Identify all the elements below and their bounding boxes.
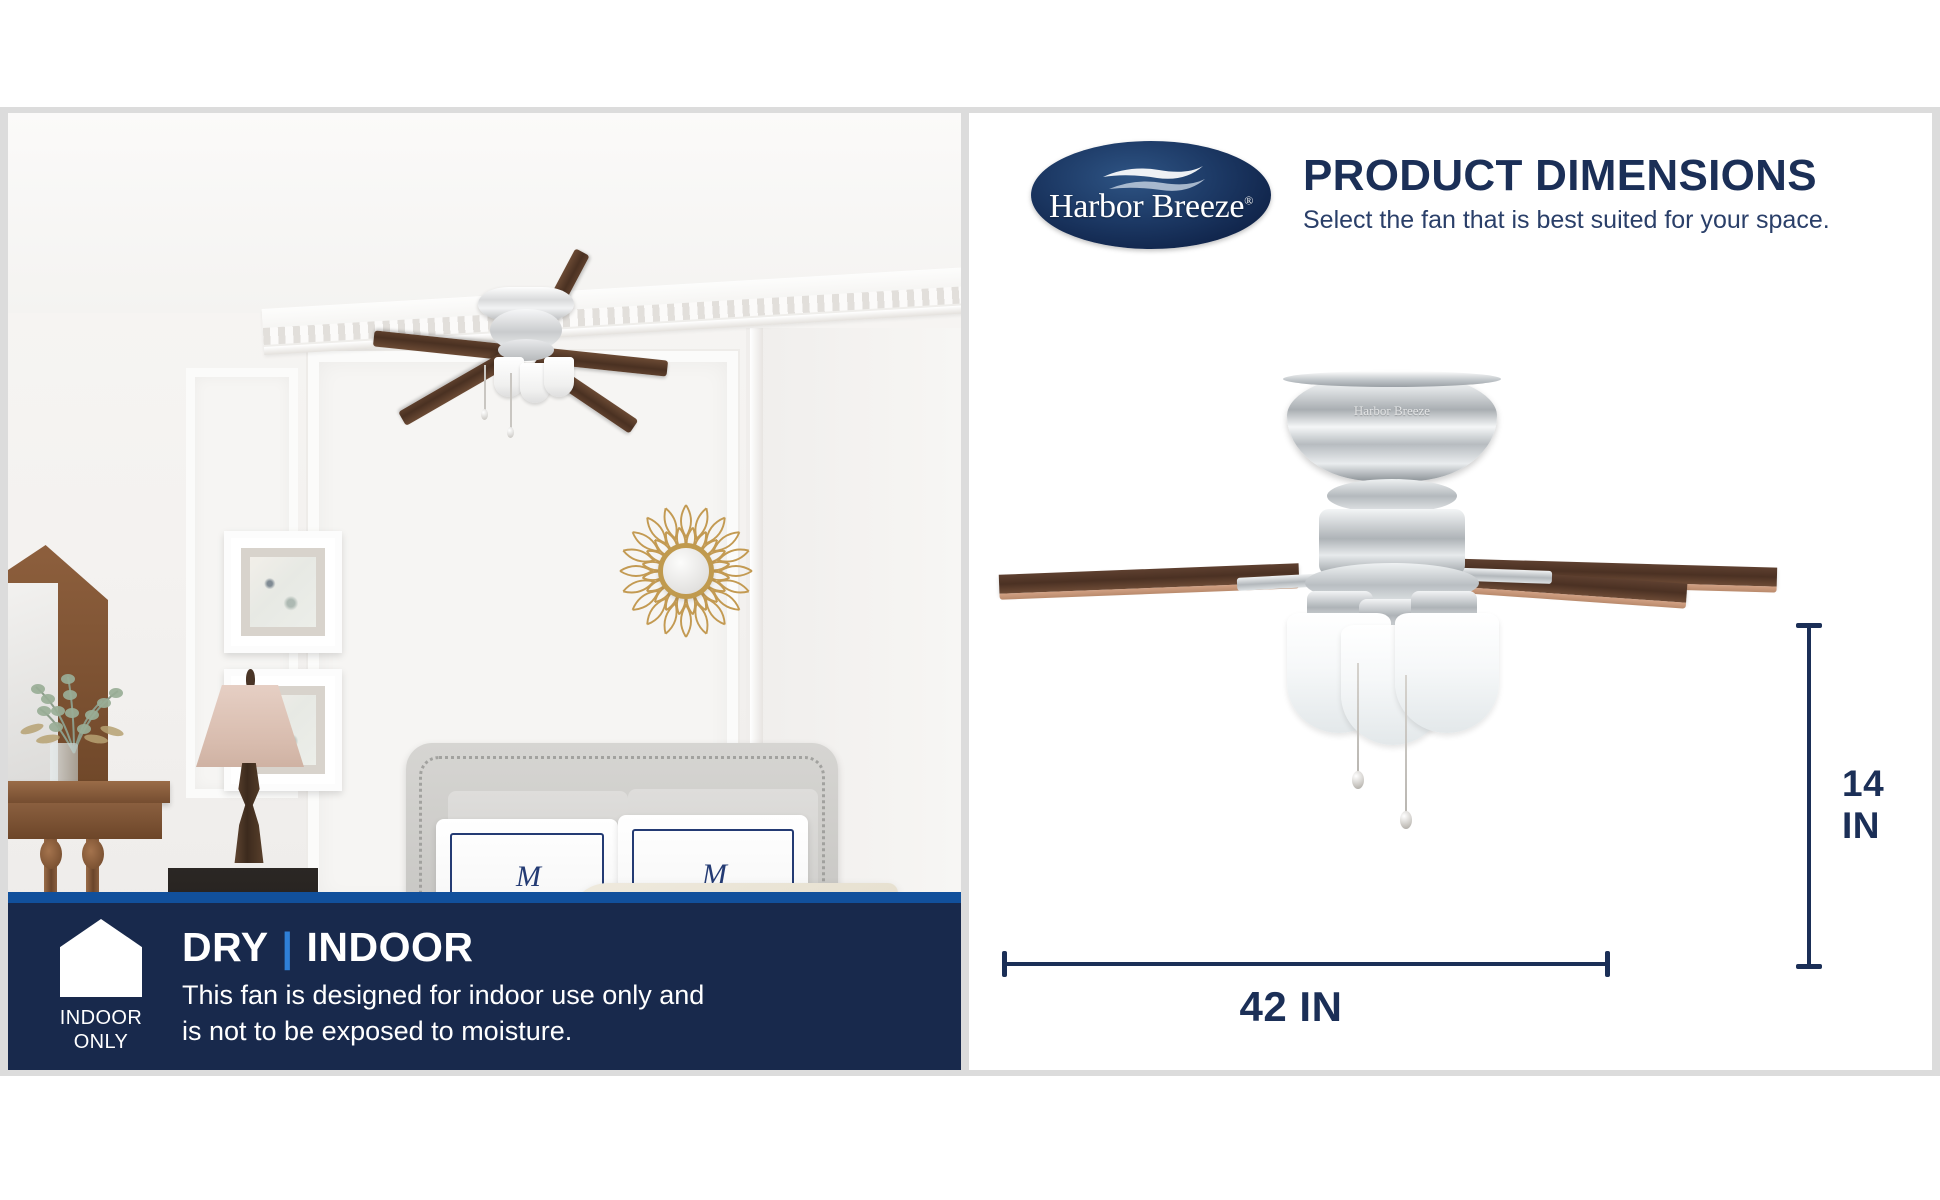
height-dimension-line [1807, 623, 1811, 969]
fan-pull-chain [484, 365, 486, 411]
page-title: PRODUCT DIMENSIONS [1303, 151, 1830, 201]
console-table-top [8, 781, 170, 803]
banner-description-line1: This fan is designed for indoor use only… [182, 978, 927, 1014]
banner-title: DRY | INDOOR [182, 924, 927, 971]
fan-pull-bead [481, 409, 488, 420]
logo-text: Harbor Breeze [1049, 188, 1244, 225]
fan-canopy-housing: Harbor Breeze [1287, 373, 1497, 481]
room-photo-panel: M M INDOOR ONLY [8, 113, 961, 1070]
leg-turning [40, 839, 62, 869]
indoor-only-badge: INDOOR ONLY [42, 919, 160, 1054]
header-text-block: PRODUCT DIMENSIONS Select the fan that i… [1303, 151, 1830, 235]
fan-pull-bead [507, 427, 514, 438]
dry-indoor-banner: INDOOR ONLY DRY | INDOOR This fan is des… [8, 892, 961, 1070]
dimension-cap [1796, 623, 1822, 628]
dimension-cap [1605, 951, 1610, 977]
dimension-cap [1002, 951, 1007, 977]
indoor-label-line1: INDOOR [60, 1006, 142, 1030]
art-image [250, 557, 316, 627]
product-dimensions-panel: Harbor Breeze® PRODUCT DIMENSIONS Select… [969, 113, 1932, 1070]
banner-accent-stripe [8, 892, 961, 903]
light-glass-shade [1395, 613, 1499, 733]
canopy-brand-mark: Harbor Breeze [1287, 403, 1497, 419]
plant-icon [14, 643, 144, 793]
logo-registered-mark: ® [1244, 194, 1253, 208]
eucalyptus-plant [14, 643, 144, 793]
pull-chain-bead [1352, 771, 1364, 789]
indoor-only-label: INDOOR ONLY [60, 1006, 142, 1054]
pull-chain [1405, 675, 1407, 815]
width-dimension-label: 42 IN [987, 983, 1595, 1031]
console-table-apron [8, 803, 162, 839]
canopy-rim [1283, 371, 1501, 387]
indoor-label-line2: ONLY [60, 1030, 142, 1054]
art-mat [241, 548, 325, 636]
logo-wordmark: Harbor Breeze® [1031, 188, 1271, 226]
fan-pull-chain [510, 373, 512, 429]
fan-light-shade [544, 357, 574, 397]
fan-neck [1327, 479, 1457, 513]
banner-title-divider: | [282, 924, 294, 971]
page-subtitle: Select the fan that is best suited for y… [1303, 206, 1830, 235]
sunburst-mirror [586, 471, 786, 671]
installed-ceiling-fan [308, 281, 708, 421]
width-dimension-line [1002, 962, 1610, 966]
banner-description-line2: is not to be exposed to moisture. [182, 1014, 927, 1050]
pillow-monogram: M [516, 860, 538, 894]
house-icon [60, 919, 142, 997]
screenshot-root: M M INDOOR ONLY [0, 0, 1940, 1200]
leg-turning [82, 839, 104, 869]
height-dimension-label: 14 IN [1842, 763, 1884, 847]
banner-description: This fan is designed for indoor use only… [182, 978, 927, 1049]
pull-chain [1357, 663, 1359, 775]
framed-art-top [224, 531, 342, 653]
ceiling-fan-product-image: Harbor Breeze 14 IN [987, 363, 1787, 843]
banner-title-indoor: INDOOR [307, 924, 474, 971]
banner-title-dry: DRY [182, 924, 269, 971]
dimension-cap [1796, 964, 1822, 969]
pull-chain-bead [1400, 811, 1412, 829]
harbor-breeze-logo: Harbor Breeze® [1031, 141, 1271, 249]
mirror-glass [658, 543, 714, 599]
